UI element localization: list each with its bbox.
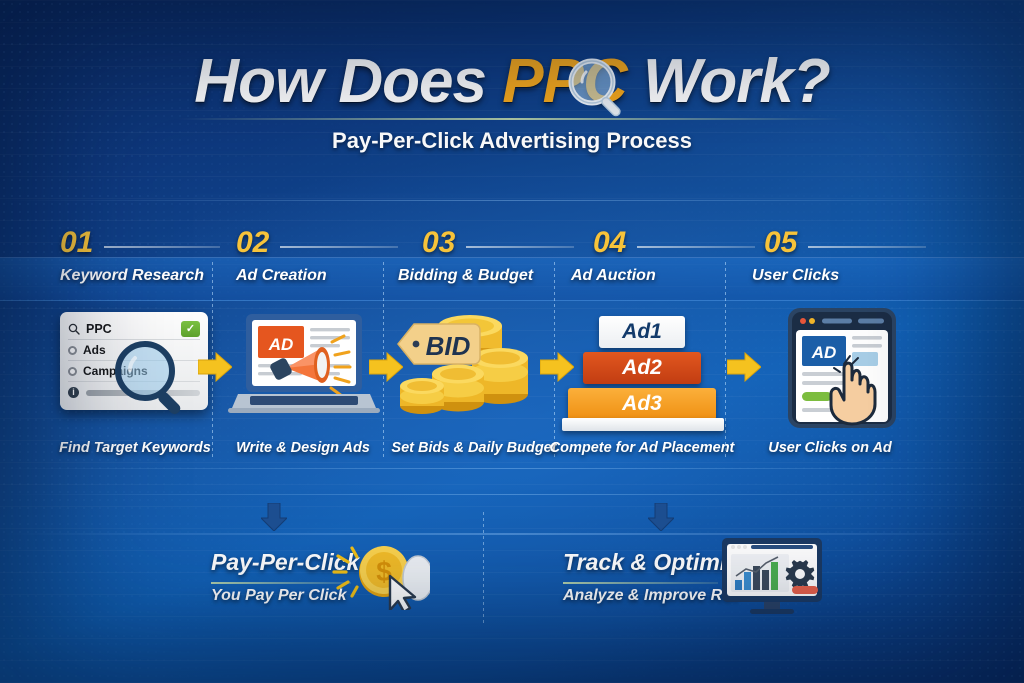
background-vignette (0, 0, 1024, 683)
infographic-canvas: How Does PPC Work? Pay-Per-Click Adverti… (0, 0, 1024, 683)
